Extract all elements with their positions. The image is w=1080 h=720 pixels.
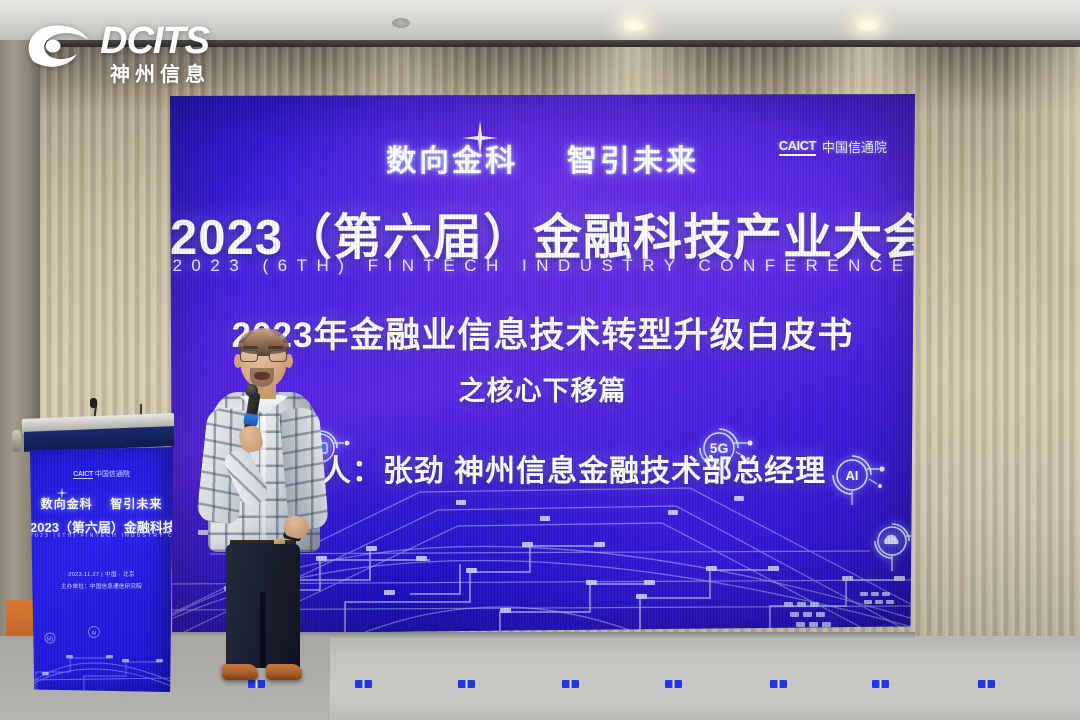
- podium-sparkle-icon: [56, 487, 68, 499]
- blue-tape-floor-marker-icon: [978, 680, 995, 688]
- ceiling-downlight-off-1: [392, 18, 410, 28]
- dcits-watermark: DCITS 神州信息: [22, 14, 252, 86]
- microphone-flag: [243, 413, 259, 426]
- svg-text:AI: AI: [92, 631, 97, 637]
- podium-conference-title: 2023（第六届）金融科技产业大会: [30, 517, 173, 536]
- mouth: [254, 372, 270, 380]
- podium-tagline-right: 智引未来: [110, 497, 162, 511]
- eyeglass-lens-left: [240, 350, 258, 362]
- blue-tape-floor-marker-icon: [562, 680, 579, 688]
- blue-tape-floor-marker-icon: [355, 680, 372, 688]
- podium-date-location: 2023.11.27 | 中国 · 北京: [30, 570, 173, 578]
- eyeglass-bridge: [258, 354, 269, 356]
- blue-tape-floor-marker-icon: [458, 680, 475, 688]
- podium-circuit-decoration-icon: 5G AI: [30, 602, 173, 692]
- ceiling-downlight-2: [856, 18, 880, 32]
- blue-tape-floor-marker-icon: [770, 680, 787, 688]
- eyebrow-right: [268, 346, 283, 349]
- dcits-brand-cn: 神州信息: [110, 58, 210, 87]
- blue-tape-floor-marker-icon: [872, 680, 889, 688]
- shoe-right: [266, 664, 302, 680]
- podium-host-organization: 主办单位：中国信息通信研究院: [30, 582, 173, 590]
- conference-stage-photo: 5G AI: [0, 0, 1080, 720]
- ceiling-downlight-1: [622, 18, 646, 32]
- blue-tape-floor-marker-icon: [248, 680, 265, 688]
- speaker-podium: CAICT 中国信通院 数向金科 智引未来 2023（第六届）金融科技产业大会 …: [22, 402, 174, 692]
- tagline-left: 数向金科: [386, 145, 518, 178]
- door-handle: [12, 430, 21, 452]
- eyebrow-left: [243, 346, 258, 349]
- eyeglasses-icon: [240, 350, 287, 363]
- speaker-person: [196, 330, 331, 680]
- svg-text:5G: 5G: [47, 637, 54, 643]
- dcits-brand-en: DCITS: [100, 20, 209, 63]
- podium-conference-subtitle-english: 2023 (6TH) FINTECH INDUSTRY CONFERENCE: [30, 533, 173, 539]
- podium-caict-abbr: CAICT: [73, 471, 93, 479]
- tagline-right: 智引未来: [567, 145, 699, 178]
- conference-subtitle-english: 2023 (6TH) FINTECH INDUSTRY CONFERENCE: [170, 256, 915, 276]
- podium-caict-name-cn: 中国信通院: [95, 471, 130, 478]
- podium-tagline: 数向金科 智引未来: [30, 495, 173, 512]
- eyeglass-lens-right: [269, 350, 287, 362]
- blue-tape-floor-marker-icon: [665, 680, 682, 688]
- event-tagline: 数向金科 智引未来: [170, 136, 915, 180]
- podium-caict-logo: CAICT 中国信通院: [30, 469, 173, 479]
- podium-front-panel: CAICT 中国信通院 数向金科 智引未来 2023（第六届）金融科技产业大会 …: [30, 447, 173, 692]
- podium-microphone-head: [90, 398, 97, 408]
- shoe-left: [222, 664, 258, 680]
- trouser-leg-gap: [260, 592, 266, 668]
- dcits-swirl-logo-icon: [22, 18, 100, 80]
- podium-tagline-left: 数向金科: [41, 497, 93, 511]
